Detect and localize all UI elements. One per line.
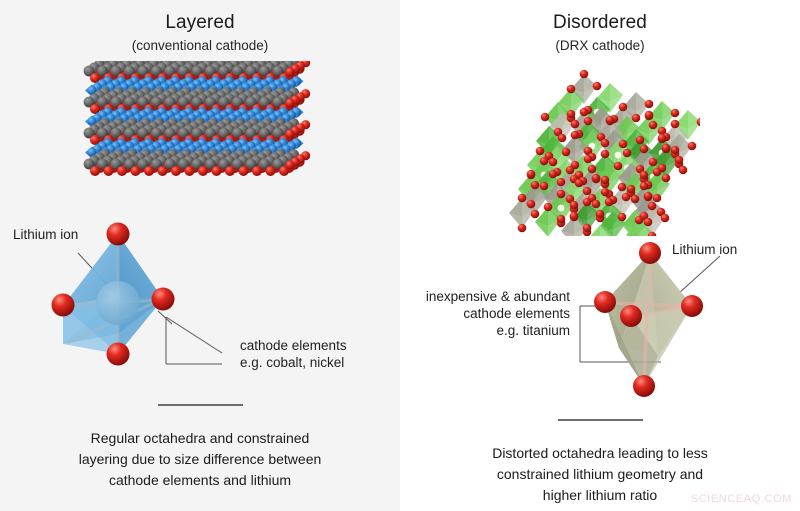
- caption-layered: Regular octahedra and constrained layeri…: [35, 428, 365, 491]
- divider-layered: [158, 404, 243, 406]
- panel-layered: Layered (conventional cathode): [0, 0, 400, 511]
- caption-line: Regular octahedra and constrained: [35, 428, 365, 449]
- caption-line: Distorted octahedra leading to less: [435, 443, 765, 464]
- octahedron-diagram-disordered: Lithium ion inexpensive & abundant catho…: [400, 236, 800, 411]
- label-lithium-ion-disordered: Lithium ion: [672, 241, 737, 258]
- label-cathode-example-layered: e.g. cobalt, nickel: [240, 354, 344, 371]
- caption-line: constrained lithium geometry and: [435, 464, 765, 485]
- octahedron-shape-layered: [63, 234, 163, 354]
- label-cathode-example-disordered: e.g. titanium: [496, 322, 570, 339]
- panel-title-layered: Layered: [165, 12, 234, 34]
- watermark: SCIENCEAQ.COM: [691, 493, 792, 505]
- panel-subtitle-layered: (conventional cathode): [132, 38, 269, 53]
- label-cathode-elements-layered: cathode elements: [240, 337, 347, 354]
- octahedron-shape-disordered: [605, 253, 692, 386]
- panel-title-disordered: Disordered: [553, 12, 647, 34]
- divider-disordered: [558, 419, 643, 421]
- panel-disordered: Disordered (DRX cathode): [400, 0, 800, 511]
- panel-subtitle-disordered: (DRX cathode): [555, 38, 644, 53]
- caption-line: cathode elements and lithium: [35, 470, 365, 491]
- octahedron-diagram-layered: Lithium ion cathode elements e.g. cobalt…: [0, 221, 400, 396]
- cathode-comparison-figure: Layered (conventional cathode): [0, 0, 800, 511]
- caption-line: layering due to size difference between: [35, 449, 365, 470]
- layered-crystal-structure: [70, 61, 330, 221]
- disordered-rocksalt-crystal-structure: [500, 61, 700, 236]
- label-cathode-adjective-disordered: inexpensive & abundant: [426, 288, 570, 305]
- label-cathode-elements-disordered: cathode elements: [463, 305, 570, 322]
- label-lithium-ion-layered: Lithium ion: [13, 226, 78, 243]
